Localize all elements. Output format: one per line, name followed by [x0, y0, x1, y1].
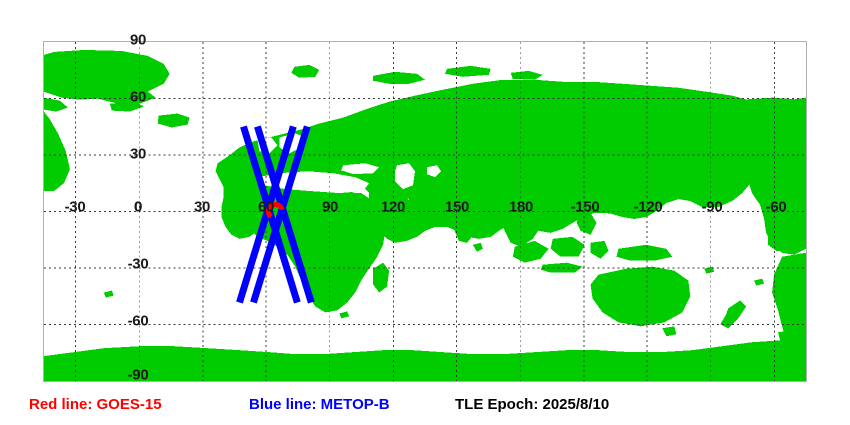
land-baffin-fragments — [44, 98, 68, 112]
land-madagascar — [373, 263, 389, 293]
world-map-svg — [44, 42, 806, 381]
land-tasmania — [662, 326, 676, 336]
land-sulawesi — [591, 241, 609, 259]
land-borneo — [551, 237, 585, 257]
land-sri-lanka — [473, 243, 483, 252]
land-novaya-zemlya — [373, 72, 425, 84]
legend-bar: Red line: GOES-15 Blue line: METOP-B TLE… — [0, 392, 850, 422]
land-australia — [591, 267, 691, 327]
satellite-groundtrack-map: -30 0 30 60 90 120 150 180 -150 -120 -90… — [0, 0, 850, 425]
map-panel — [43, 41, 807, 382]
legend-blue-line-metopb: Blue line: METOP-B — [249, 397, 390, 412]
legend-red-line-goes15: Red line: GOES-15 — [29, 397, 162, 412]
land-kerguelen — [339, 311, 349, 318]
landmass-layer — [44, 50, 806, 381]
land-canada — [44, 112, 70, 192]
land-philippines — [577, 213, 597, 235]
legend-tle-epoch: TLE Epoch: 2025/8/10 — [455, 397, 609, 412]
land-iceland — [158, 114, 190, 128]
land-fiji — [754, 279, 764, 286]
land-arctic-isles — [445, 66, 491, 77]
land-severnaya — [511, 71, 543, 80]
land-antarctica — [44, 338, 806, 381]
land-greenland — [44, 50, 170, 104]
land-svalbard — [291, 65, 319, 78]
land-south-georgia — [104, 291, 114, 298]
land-java — [541, 263, 583, 273]
land-africa — [241, 187, 385, 312]
land-new-guinea — [616, 245, 672, 261]
